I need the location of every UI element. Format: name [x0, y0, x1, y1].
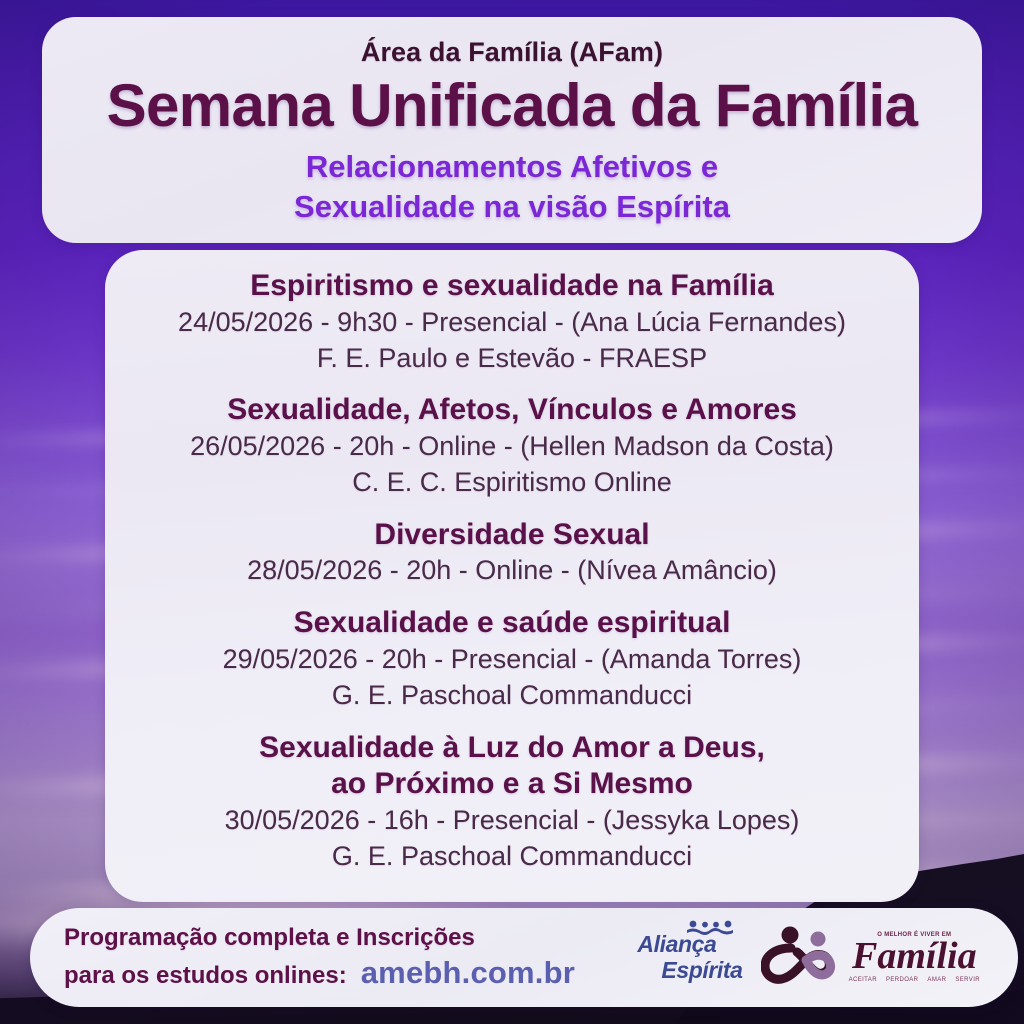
subtitle-line-2: Sexualidade na visão Espírita: [294, 187, 730, 227]
schedule-card: Espiritismo e sexualidade na Família 24/…: [105, 250, 919, 902]
familia-logo-text: Família: [852, 938, 977, 974]
footer-text-block: Programação completa e Inscrições para o…: [64, 922, 575, 993]
event-item: Espiritismo e sexualidade na Família 24/…: [131, 268, 893, 376]
footer-card: Programação completa e Inscrições para o…: [30, 908, 1018, 1007]
website-url-link[interactable]: amebh.com.br: [361, 953, 575, 993]
event-item: Sexualidade à Luz do Amor a Deus, ao Pró…: [131, 730, 893, 875]
event-venue: F. E. Paulo e Estevão - FRAESP: [131, 341, 893, 377]
event-venue: G. E. Paschoal Commanducci: [131, 839, 893, 875]
event-detail: 30/05/2026 - 16h - Presencial - (Jessyka…: [131, 803, 893, 839]
infinity-people-icon: [761, 926, 845, 989]
event-venue: C. E. C. Espiritismo Online: [131, 465, 893, 501]
page-subtitle: Relacionamentos Afetivos e Sexualidade n…: [294, 147, 730, 226]
page-title: Semana Unificada da Família: [107, 74, 918, 137]
event-detail: 24/05/2026 - 9h30 - Presencial - (Ana Lú…: [131, 305, 893, 341]
event-item: Diversidade Sexual 28/05/2026 - 20h - On…: [131, 517, 893, 590]
event-item: Sexualidade e saúde espiritual 29/05/202…: [131, 605, 893, 713]
alianca-logo-line-2: Espírita: [661, 959, 742, 982]
event-title: Diversidade Sexual: [131, 517, 893, 554]
familia-word-1: ACEITAR: [849, 977, 877, 983]
event-title: Espiritismo e sexualidade na Família: [131, 268, 893, 305]
familia-tagline-words: ACEITAR PERDOAR AMAR SERVIR: [849, 977, 980, 983]
event-detail: 28/05/2026 - 20h - Online - (Nívea Amânc…: [131, 553, 893, 589]
poster-canvas: Área da Família (AFam) Semana Unificada …: [0, 0, 1024, 1024]
event-title: Sexualidade à Luz do Amor a Deus,: [131, 730, 893, 767]
event-detail: 29/05/2026 - 20h - Presencial - (Amanda …: [131, 642, 893, 678]
logo-group: Aliança Espírita O MELHOR É VIVER EM Fam…: [637, 926, 1018, 989]
footer-line-2-label: para os estudos onlines:: [64, 960, 347, 991]
familia-word-3: AMAR: [927, 977, 946, 983]
header-card: Área da Família (AFam) Semana Unificada …: [42, 17, 982, 243]
event-detail: 26/05/2026 - 20h - Online - (Hellen Mads…: [131, 429, 893, 465]
alianca-espirita-logo: Aliança Espírita: [637, 933, 742, 982]
organization-label: Área da Família (AFam): [361, 37, 663, 68]
footer-line-1: Programação completa e Inscrições: [64, 922, 575, 953]
familia-word-2: PERDOAR: [886, 977, 918, 983]
familia-wordmark: O MELHOR É VIVER EM Família ACEITAR PERD…: [849, 932, 980, 982]
event-title: Sexualidade, Afetos, Vínculos e Amores: [131, 392, 893, 429]
footer-line-2: para os estudos onlines: amebh.com.br: [64, 953, 575, 993]
event-venue: G. E. Paschoal Commanducci: [131, 678, 893, 714]
familia-logo: O MELHOR É VIVER EM Família ACEITAR PERD…: [761, 926, 980, 989]
event-title-line-2: ao Próximo e a Si Mesmo: [131, 766, 893, 803]
subtitle-line-1: Relacionamentos Afetivos e: [294, 147, 730, 187]
event-title: Sexualidade e saúde espiritual: [131, 605, 893, 642]
event-item: Sexualidade, Afetos, Vínculos e Amores 2…: [131, 392, 893, 500]
familia-word-4: SERVIR: [955, 977, 980, 983]
people-chain-icon: [685, 920, 741, 942]
